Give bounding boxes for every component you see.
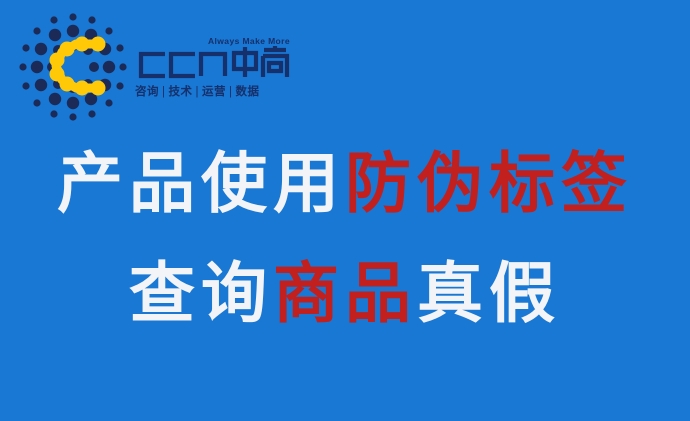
logo-service-2: 运营: [202, 86, 226, 98]
logo-service-1: 技术: [169, 86, 193, 98]
logo-service-3: 数据: [236, 86, 260, 98]
headline-2-segment-red: 商品: [273, 258, 417, 331]
promo-banner: Always Make More: [0, 0, 690, 421]
logo-separator-2: |: [226, 86, 236, 98]
ccn-dot-circle-logo-icon: [14, 8, 132, 126]
logo-separator-0: |: [159, 86, 169, 98]
logo-service-0: 咨询: [135, 86, 159, 98]
headline-1-segment-red: 防伪标签: [345, 148, 633, 221]
headline-1-segment-white: 产品使用: [57, 148, 345, 221]
logo-separator-1: |: [193, 86, 203, 98]
headline-2-segment-white-2: 真假: [417, 258, 561, 331]
headline-2-segment-white-1: 查询: [129, 258, 273, 331]
headline-line-2: 查询商品真假: [0, 262, 690, 328]
headline-line-1: 产品使用防伪标签: [0, 152, 690, 218]
logo-wordmark-ccn-zhongshang: [133, 44, 291, 80]
logo-text-group: Always Make More: [130, 14, 292, 114]
brand-logo[interactable]: Always Make More: [8, 6, 293, 124]
logo-services-list: 咨询|技术|运营|数据: [135, 83, 289, 99]
